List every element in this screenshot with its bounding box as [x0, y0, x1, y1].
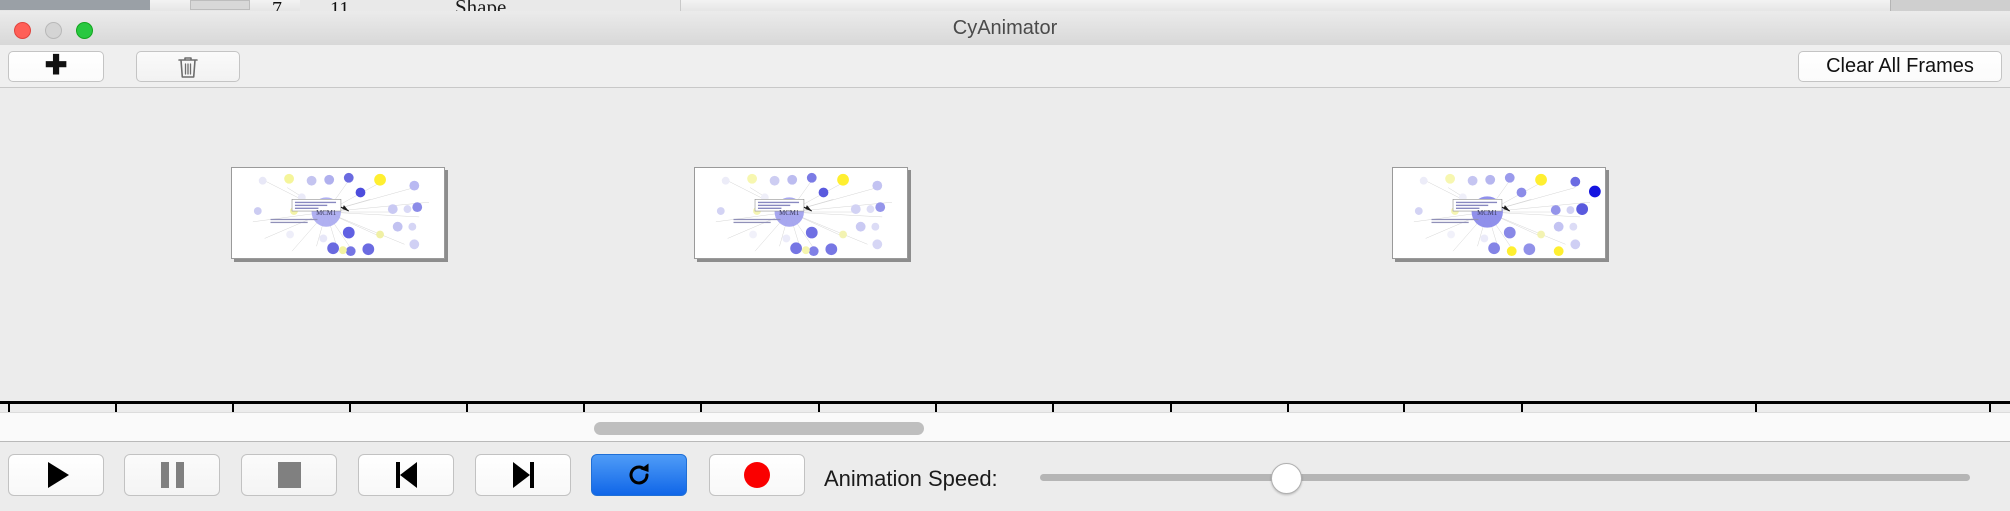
stop-icon	[278, 462, 301, 488]
timeline-axis	[0, 401, 2010, 404]
delete-frame-button[interactable]	[136, 51, 240, 82]
plus-icon: ✚	[45, 52, 68, 79]
timeline-scrollbar[interactable]	[0, 412, 2010, 442]
record-icon	[744, 462, 770, 488]
minimize-button[interactable]	[45, 22, 62, 39]
window-title: CyAnimator	[0, 11, 2010, 45]
animation-speed-label: Animation Speed:	[824, 466, 998, 492]
background-toolbar-button	[190, 0, 250, 10]
loop-button[interactable]	[591, 454, 687, 496]
skip-forward-button[interactable]	[475, 454, 571, 496]
clear-all-frames-button[interactable]: Clear All Frames	[1798, 51, 2002, 82]
frame-thumbnail[interactable]: MCM1	[1392, 167, 1606, 259]
loop-icon	[625, 461, 653, 489]
timeline-panel[interactable]: MCM1	[0, 88, 2010, 408]
skip-back-icon	[396, 462, 417, 488]
svg-text:MCM1: MCM1	[316, 210, 336, 217]
network-graph-preview: MCM1	[232, 168, 444, 258]
animation-speed-slider-thumb[interactable]	[1271, 463, 1302, 494]
play-icon	[48, 462, 69, 488]
animation-speed-slider[interactable]	[1040, 474, 1970, 481]
skip-back-button[interactable]	[358, 454, 454, 496]
playback-controls: Animation Speed:	[0, 441, 2010, 511]
pause-button[interactable]	[124, 454, 220, 496]
traffic-lights	[14, 22, 93, 39]
stop-button[interactable]	[241, 454, 337, 496]
scrollbar-thumb[interactable]	[594, 422, 924, 435]
record-button[interactable]	[709, 454, 805, 496]
toolbar: ✚ Clear All Frames	[0, 45, 2010, 88]
frame-thumbnail[interactable]: MCM1	[231, 167, 445, 259]
trash-icon	[177, 55, 199, 79]
titlebar[interactable]: CyAnimator	[0, 11, 2010, 46]
network-graph-preview: MCM1	[1393, 168, 1605, 258]
frame-thumbnail[interactable]: MCM1	[694, 167, 908, 259]
skip-forward-icon	[513, 462, 534, 488]
play-button[interactable]	[8, 454, 104, 496]
cyanimator-window: 7 11 Shape CyAnimator ✚ Clear All Frames	[0, 0, 2010, 510]
pause-icon	[161, 462, 184, 488]
close-button[interactable]	[14, 22, 31, 39]
background-toolbar-dark	[0, 0, 150, 10]
svg-text:MCM1: MCM1	[1477, 210, 1497, 217]
zoom-button[interactable]	[76, 22, 93, 39]
network-graph-preview: MCM1	[695, 168, 907, 258]
add-frame-button[interactable]: ✚	[8, 51, 104, 82]
svg-text:MCM1: MCM1	[779, 210, 799, 217]
background-right-panel	[1890, 0, 2010, 11]
